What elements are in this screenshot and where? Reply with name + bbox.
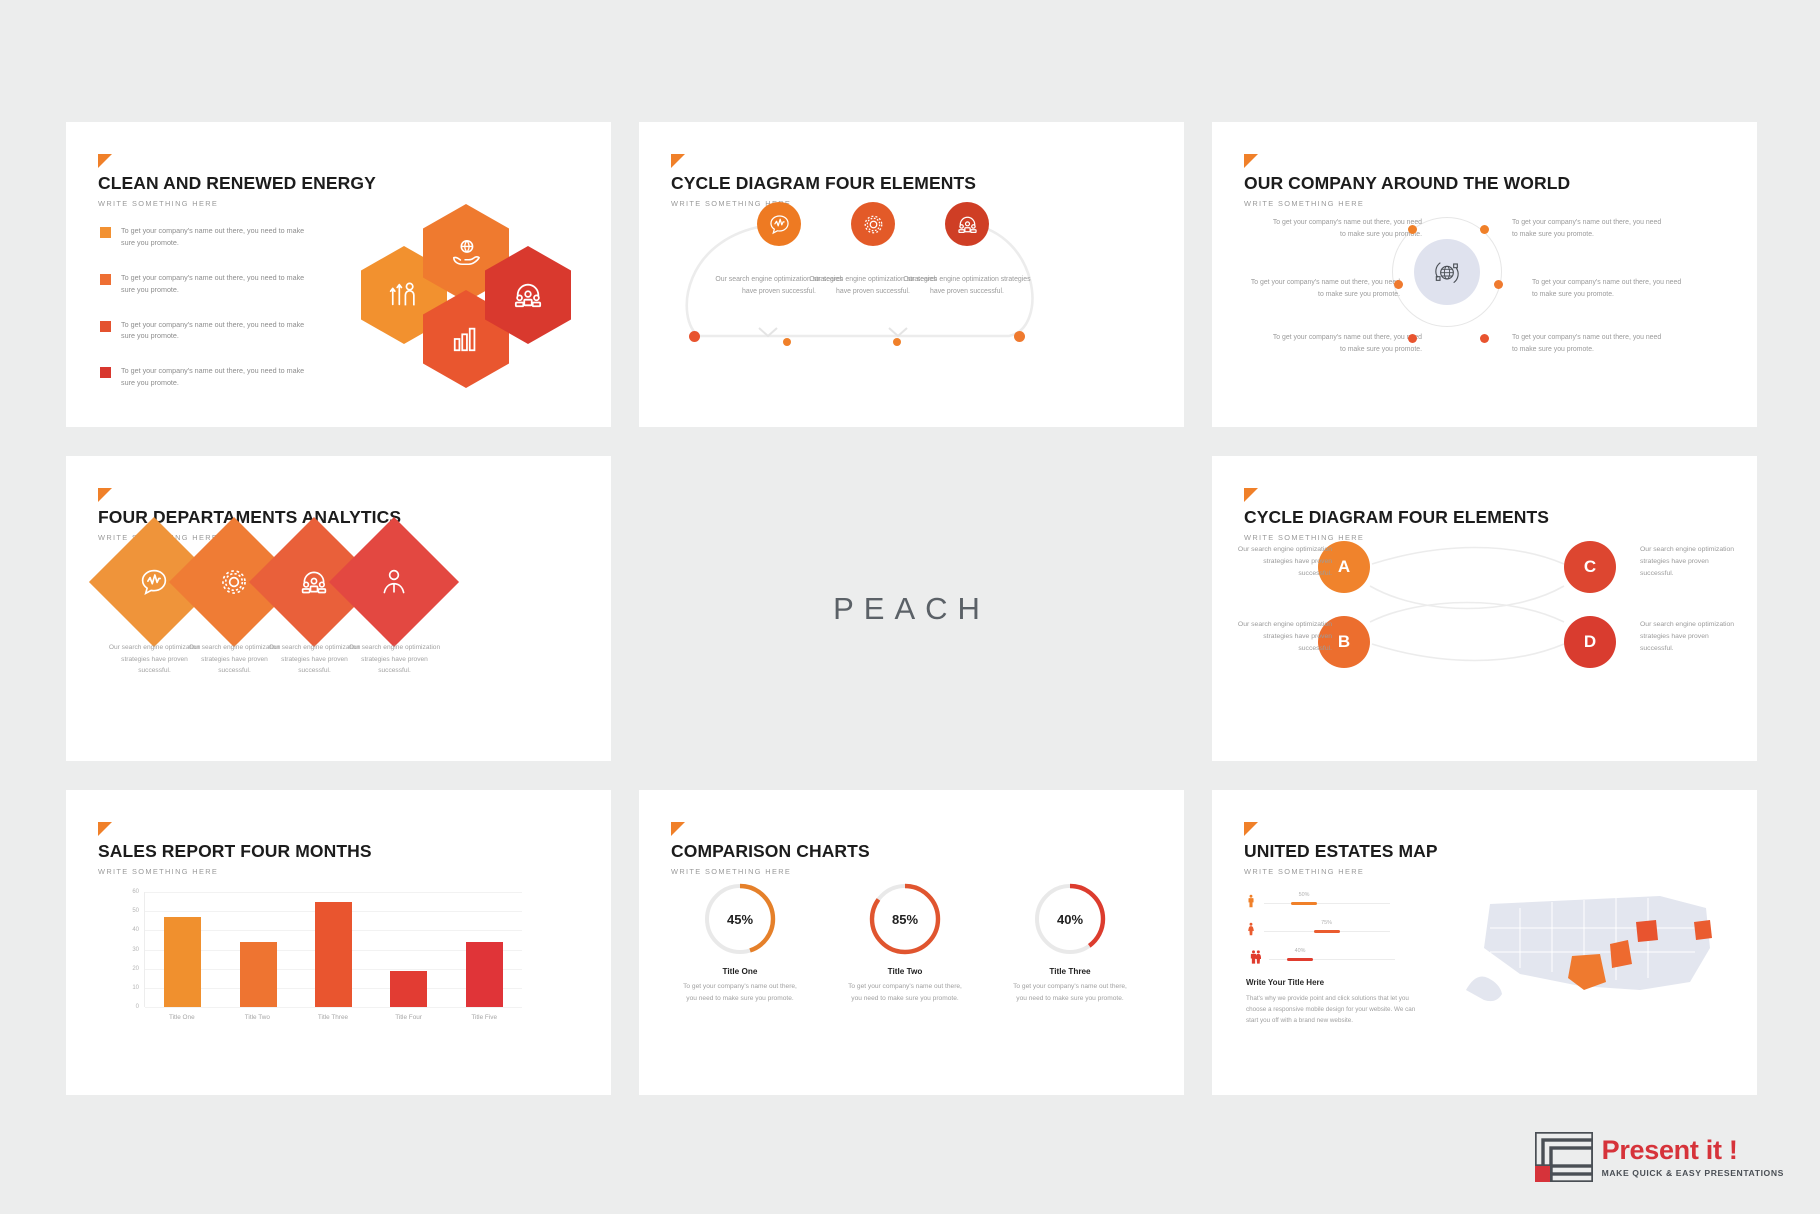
world-callout: To get your company's name out there, yo… [1272,332,1422,357]
connector-dot [1480,225,1489,234]
bullet-list: To get your company's name out there, yo… [100,225,315,412]
y-tick-label: 50 [132,908,139,914]
x-tick-label: Title Four [376,1014,442,1021]
cycle-b-track [1212,456,1757,761]
donut-title: Title Three [995,967,1145,976]
bar-column [451,892,517,1007]
donut-title: Title One [665,967,815,976]
bullet-text: To get your company's name out there, yo… [121,272,315,296]
bar-column [225,892,291,1007]
connector-dot [1480,334,1489,343]
progress-track: 75% [1264,931,1390,932]
bullet-square-icon [100,227,111,238]
page-subtitle: WRITE SOMETHING HERE [1244,867,1438,876]
progress-label: 50% [1299,892,1310,898]
corner-flag-icon [98,154,112,168]
donut-gauge[interactable]: 45% [703,882,777,956]
stat-row: 75% [1246,920,1390,943]
body-text: That's why we provide point and click so… [1246,993,1426,1026]
page-title: SALES REPORT FOUR MONTHS [98,841,372,862]
usa-map [1460,878,1740,1018]
cycle-node-2[interactable] [851,202,895,246]
bullet-square-icon [100,367,111,378]
grid-line [145,1007,522,1008]
progress-fill [1291,902,1317,905]
stat-row: 50% [1246,892,1390,915]
hexagon-cluster [361,194,571,384]
page-title: UNITED ESTATES MAP [1244,841,1438,862]
list-item: To get your company's name out there, yo… [100,365,315,389]
progress-track: 50% [1264,903,1390,904]
bullet-text: To get your company's name out there, yo… [121,319,315,343]
x-axis: Title OneTitle TwoTitle ThreeTitle FourT… [144,1014,522,1021]
brand-word: PEACH [639,456,1184,761]
slide-header: COMPARISON CHARTS WRITE SOMETHING HERE [671,822,870,876]
cycle-letter-text: Our search engine optimization strategie… [1640,619,1744,656]
y-tick-label: 0 [136,1004,139,1010]
couple-icon [1246,948,1261,971]
slide-cycle-four-b[interactable]: CYCLE DIAGRAM FOUR ELEMENTS WRITE SOMETH… [1212,456,1757,761]
cycle-letter-text: Our search engine optimization strategie… [1228,544,1332,581]
donut-value: 45% [703,882,777,956]
y-tick-label: 40 [132,927,139,933]
page-title: CLEAN AND RENEWED ENERGY [98,173,376,194]
slide-cycle-four-a[interactable]: CYCLE DIAGRAM FOUR ELEMENTS WRITE SOMETH… [639,122,1184,427]
bullet-text: To get your company's name out there, yo… [121,365,315,389]
world-callout: To get your company's name out there, yo… [1272,217,1422,242]
world-callout: To get your company's name out there, yo… [1532,277,1682,302]
corner-flag-icon [1244,154,1258,168]
logo-tagline: MAKE QUICK & EASY PRESENTATIONS [1602,1168,1784,1178]
slide-header: OUR COMPANY AROUND THE WORLD WRITE SOMET… [1244,154,1570,208]
bar-column [150,892,216,1007]
donut-description: To get your company's name out there, yo… [830,981,980,1004]
x-tick-label: Title One [149,1014,215,1021]
x-tick-label: Title Five [451,1014,517,1021]
corner-flag-icon [1244,822,1258,836]
cycle-letter-text: Our search engine optimization strategie… [1228,619,1332,656]
page-subtitle: WRITE SOMETHING HERE [98,199,376,208]
connector-dot [1408,334,1417,343]
globe-network-icon [1431,256,1463,288]
cycle-node-1[interactable] [757,202,801,246]
comparison-item: 40% Title Three To get your company's na… [995,882,1145,1004]
bar[interactable] [390,971,427,1007]
slide-header: UNITED ESTATES MAP WRITE SOMETHING HERE [1244,822,1438,876]
connector-dot [1408,225,1417,234]
cycle-letter-text: Our search engine optimization strategie… [1640,544,1744,581]
comparison-item: 85% Title Two To get your company's name… [830,882,980,1004]
bar-column [376,892,442,1007]
page-subtitle: WRITE SOMETHING HERE [98,867,372,876]
corner-flag-icon [98,822,112,836]
list-item: To get your company's name out there, yo… [100,272,315,296]
donut-value: 40% [1033,882,1107,956]
world-callout: To get your company's name out there, yo… [1250,277,1400,302]
stat-row: 40% [1246,948,1395,971]
diamond-caption: Our search engine optimization strategie… [347,642,442,677]
slide-sales-report[interactable]: SALES REPORT FOUR MONTHS WRITE SOMETHING… [66,790,611,1095]
donut-description: To get your company's name out there, yo… [665,981,815,1004]
bar[interactable] [240,942,277,1007]
donut-gauge[interactable]: 40% [1033,882,1107,956]
bullet-square-icon [100,321,111,332]
y-tick-label: 20 [132,966,139,972]
comparison-item: 45% Title One To get your company's name… [665,882,815,1004]
present-it-logo: Present it ! MAKE QUICK & EASY PRESENTAT… [1535,1132,1784,1182]
cycle-caption: Our search engine optimization strategie… [903,274,1031,298]
sales-bar-chart: 6050403020100 Title OneTitle TwoTitle Th… [114,892,534,1037]
stacked-bars-icon [1535,1132,1593,1182]
progress-track: 40% [1269,959,1395,960]
track-dot [783,338,791,346]
bullet-text: To get your company's name out there, yo… [121,225,315,249]
cycle-letter-C[interactable]: C [1564,541,1616,593]
corner-flag-icon [671,822,685,836]
bar-column [300,892,366,1007]
x-tick-label: Title Three [300,1014,366,1021]
globe-center [1414,239,1480,305]
progress-label: 75% [1321,920,1332,926]
list-item: To get your company's name out there, yo… [100,225,315,249]
body-title: Write Your Title Here [1246,978,1324,987]
donut-value: 85% [868,882,942,956]
slide-header: SALES REPORT FOUR MONTHS WRITE SOMETHING… [98,822,372,876]
corner-flag-icon [98,488,112,502]
page-title: OUR COMPANY AROUND THE WORLD [1244,173,1570,194]
woman-icon [1246,920,1256,943]
slide-around-the-world[interactable]: OUR COMPANY AROUND THE WORLD WRITE SOMET… [1212,122,1757,427]
y-tick-label: 60 [132,889,139,895]
donut-gauge[interactable]: 85% [868,882,942,956]
slide-grid: CLEAN AND RENEWED ENERGY WRITE SOMETHING… [66,122,1756,1095]
cycle-node-3[interactable] [945,202,989,246]
slide-four-departaments[interactable]: FOUR DEPARTAMENTS ANALYTICS WRITE SOMETH… [66,456,611,761]
track-dot [1014,331,1025,342]
slide-peach-brand[interactable]: PEACH [639,456,1184,761]
page-subtitle: WRITE SOMETHING HERE [1244,199,1570,208]
track-dot [689,331,700,342]
bar[interactable] [315,902,352,1007]
progress-label: 40% [1295,948,1306,954]
donut-title: Title Two [830,967,980,976]
connector-dot [1394,280,1403,289]
slide-united-estates-map[interactable]: UNITED ESTATES MAP WRITE SOMETHING HERE … [1212,790,1757,1095]
slide-header: CLEAN AND RENEWED ENERGY WRITE SOMETHING… [98,154,376,208]
slide-comparison-charts[interactable]: COMPARISON CHARTS WRITE SOMETHING HERE 4… [639,790,1184,1095]
track-dot [893,338,901,346]
progress-fill [1287,958,1313,961]
slide-clean-energy[interactable]: CLEAN AND RENEWED ENERGY WRITE SOMETHING… [66,122,611,427]
page-subtitle: WRITE SOMETHING HERE [671,867,870,876]
world-callout: To get your company's name out there, yo… [1512,217,1662,242]
plot-area [144,892,522,1007]
x-tick-label: Title Two [224,1014,290,1021]
logo-name: Present it ! [1602,1137,1784,1164]
man-icon [1246,892,1256,915]
y-tick-label: 10 [132,985,139,991]
y-tick-label: 30 [132,947,139,953]
bar[interactable] [466,942,503,1007]
list-item: To get your company's name out there, yo… [100,319,315,343]
y-axis: 6050403020100 [114,892,142,1007]
progress-fill [1314,930,1340,933]
bar[interactable] [164,917,201,1007]
cycle-letter-D[interactable]: D [1564,616,1616,668]
page-title: FOUR DEPARTAMENTS ANALYTICS [98,507,401,528]
page-title: COMPARISON CHARTS [671,841,870,862]
bullet-square-icon [100,274,111,285]
world-callout: To get your company's name out there, yo… [1512,332,1662,357]
donut-description: To get your company's name out there, yo… [995,981,1145,1004]
connector-dot [1494,280,1503,289]
